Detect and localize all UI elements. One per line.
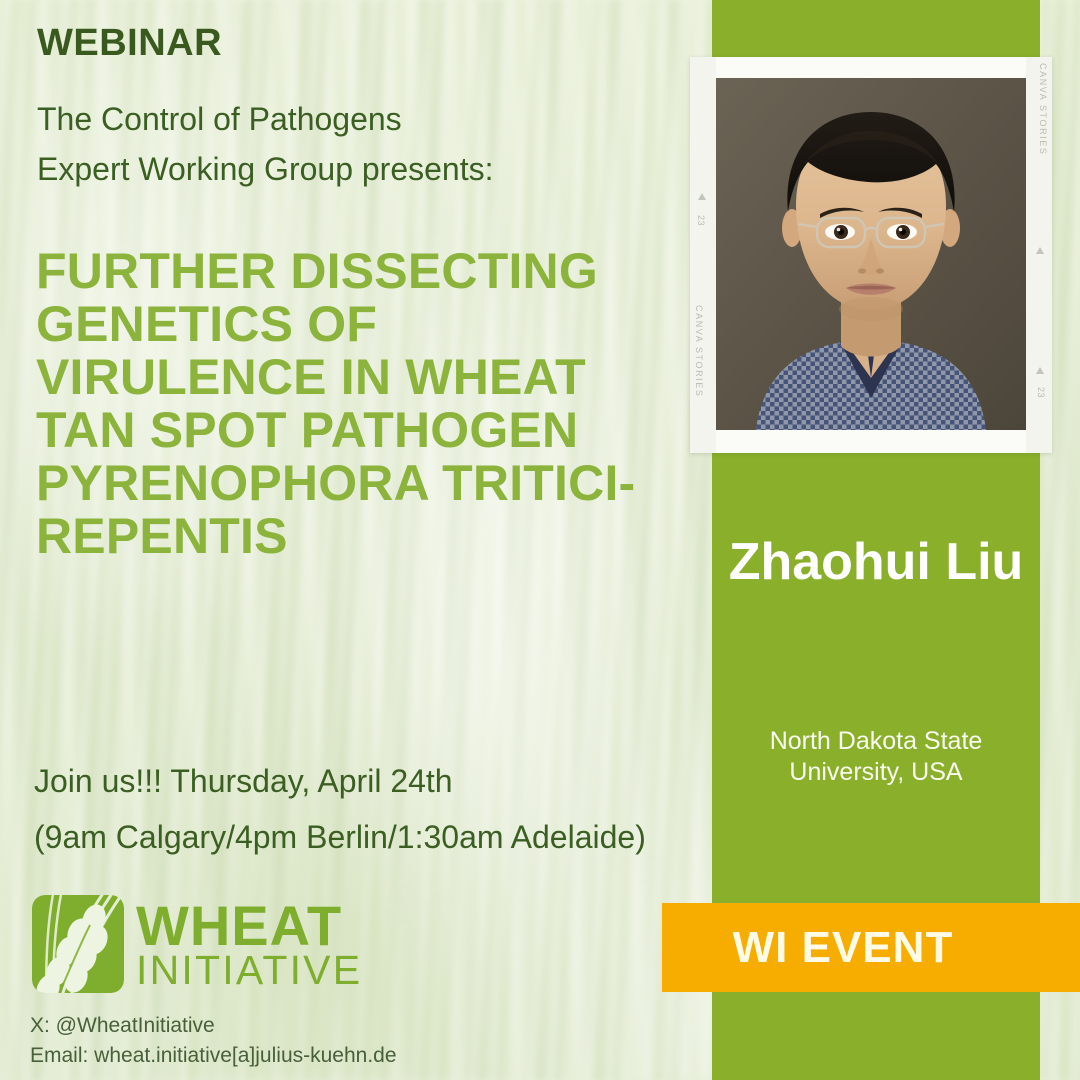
- event-date: Join us!!! Thursday, April 24th: [34, 762, 694, 800]
- wi-event-badge: WI EVENT: [662, 903, 1080, 992]
- logo-wordmark: WHEAT INITIATIVE: [136, 898, 362, 991]
- film-triangle-marker-right-lower: [1036, 367, 1044, 374]
- left-content-column: WEBINAR The Control of Pathogens Expert …: [0, 0, 700, 1080]
- canva-watermark-right: CANVA STORIES: [1038, 63, 1048, 156]
- logo-word-wheat: WHEAT: [136, 898, 362, 954]
- speaker-portrait: [716, 78, 1026, 430]
- webinar-poster: WEBINAR The Control of Pathogens Expert …: [0, 0, 1080, 1080]
- film-triangle-marker-left: [698, 193, 706, 200]
- working-group-line-2: Expert Working Group presents:: [37, 151, 494, 189]
- logo-word-initiative: INITIATIVE: [136, 950, 362, 991]
- contact-social: X: @WheatInitiative: [30, 1013, 590, 1039]
- film-frame-number-right: 23: [1036, 387, 1046, 398]
- canva-watermark-left: CANVA STORIES: [694, 305, 704, 398]
- webinar-title: FURTHER DISSECTING GENETICS OF VIRULENCE…: [36, 245, 676, 563]
- working-group-line-1: The Control of Pathogens: [37, 101, 402, 139]
- speaker-photo-frame: CANVA STORIES CANVA STORIES 23 23: [690, 57, 1052, 453]
- film-triangle-marker-right-upper: [1036, 247, 1044, 254]
- wheat-ear-icon: [32, 895, 124, 993]
- wi-event-badge-label: WI EVENT: [733, 923, 954, 973]
- portrait-illustration: [716, 78, 1026, 430]
- speaker-affiliation: North Dakota State University, USA: [712, 726, 1040, 787]
- webinar-kicker: WEBINAR: [37, 24, 222, 62]
- event-timezones: (9am Calgary/4pm Berlin/1:30am Adelaide): [34, 818, 694, 856]
- wheat-initiative-logo: WHEAT INITIATIVE: [32, 895, 362, 993]
- film-frame-number-left: 23: [696, 215, 706, 226]
- contact-email: Email: wheat.initiative[a]julius-kuehn.d…: [30, 1043, 590, 1069]
- speaker-name: Zhaohui Liu: [712, 535, 1040, 590]
